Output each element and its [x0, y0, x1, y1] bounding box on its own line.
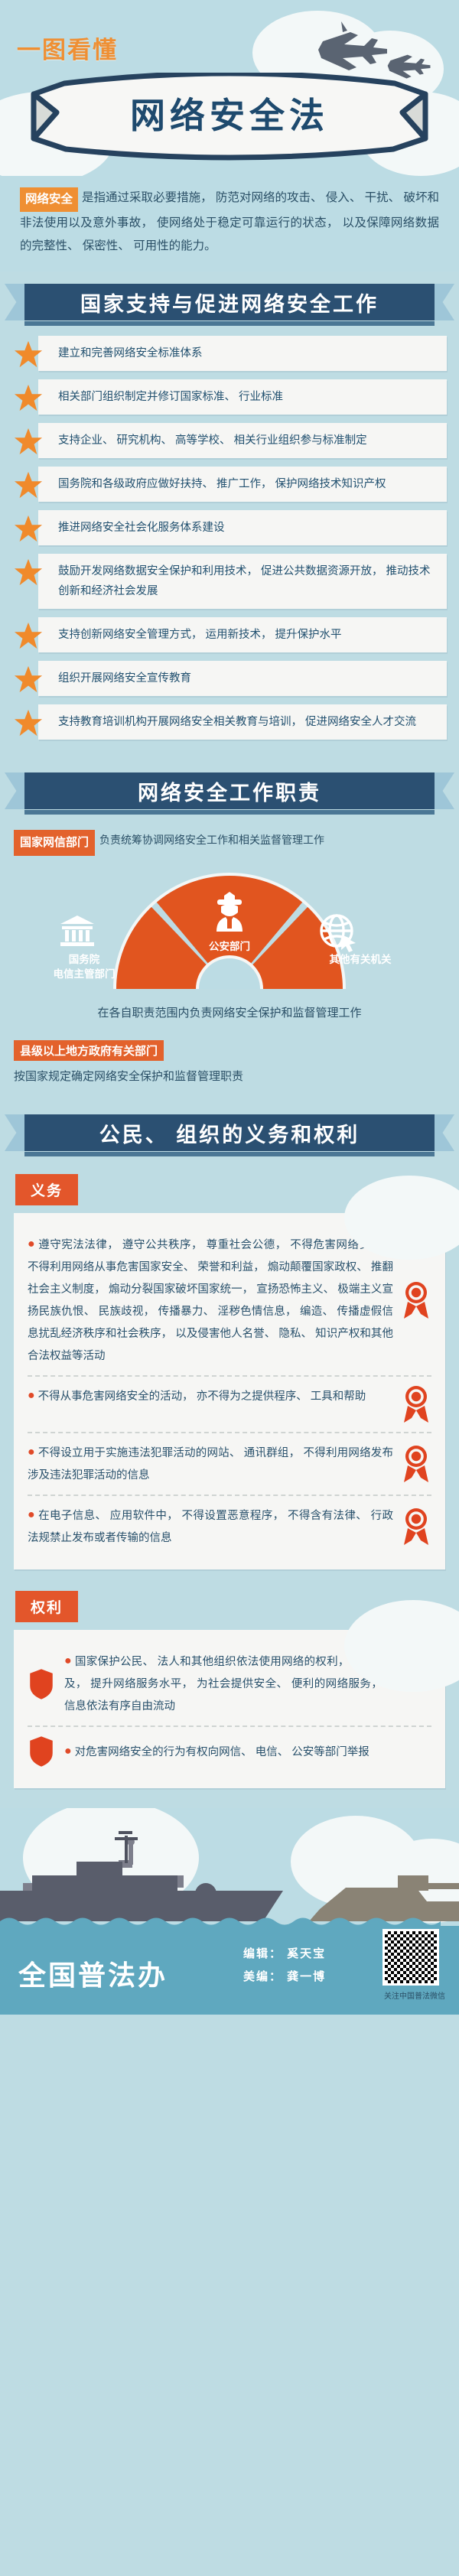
qr-caption: 关注中国普法微信 [384, 1989, 445, 2001]
local-gov-tag: 县级以上地方政府有关部门 [14, 1040, 164, 1061]
bullet-icon: ● [28, 1508, 35, 1521]
list-item-text: 推进网络安全社会化服务体系建设 [58, 518, 225, 538]
obligations-chip: 义务 [15, 1174, 78, 1205]
ribbon-tail-right [433, 1114, 454, 1151]
star-icon [12, 707, 44, 739]
star-icon [12, 338, 44, 370]
list-item: 建立和完善网络安全标准体系 [12, 336, 447, 371]
ribbon-tail-left [5, 1114, 26, 1151]
ribbon-tail-right [433, 772, 454, 809]
police-officer-icon [207, 891, 252, 932]
star-icon [12, 382, 44, 414]
list-item-text: 不得从事危害网络安全的活动， 亦不得为之提供程序、 工具和帮助 [38, 1390, 366, 1403]
section-header-duties-rights: 公民、 组织的义务和权利 [5, 1114, 454, 1157]
bank-icon [59, 914, 96, 948]
definition-tag: 网络安全 [20, 187, 78, 212]
medal-ribbon-icon [401, 1444, 431, 1484]
list-item: 鼓励开发网络数据安全保护和利用技术， 促进公共数据资源开放， 推动技术创新和经济… [12, 554, 447, 609]
footer-brand: 全国普法办 [18, 1953, 168, 1993]
list-item-text: 国务院和各级政府应做好扶持、 推广工作， 保护网络技术知识产权 [58, 474, 386, 494]
section1-list: 建立和完善网络安全标准体系 相关部门组织制定并修订国家标准、 行业标准 支持企业… [0, 333, 459, 753]
local-gov-block: 县级以上地方政府有关部门 按国家规定确定网络安全保护和监督管理职责 [0, 1023, 459, 1091]
header: 一图看懂 网络安全法 [0, 0, 459, 176]
title-banner: 网络安全法 [11, 73, 448, 164]
list-item-text: 遵守宪法法律， 遵守公共秩序， 尊重社会公德， 不得危害网络安全， 不得利用网络… [28, 1239, 393, 1362]
warship-icon [0, 1808, 459, 1938]
obligations-panel: ●遵守宪法法律， 遵守公共秩序， 尊重社会公德， 不得危害网络安全， 不得利用网… [14, 1213, 445, 1569]
section3-title: 公民、 组织的义务和权利 [99, 1118, 360, 1148]
star-icon [12, 512, 44, 545]
list-item-text: 不得设立用于实施违法犯罪活动的网站、 通讯群组， 不得利用网络发布涉及违法犯罪活… [28, 1447, 393, 1482]
cac-tag: 国家网信部门 [14, 830, 95, 856]
page-title: 网络安全法 [11, 73, 448, 164]
list-item-text: 支持创新网络安全管理方式， 运用新技术， 提升保护水平 [58, 625, 342, 645]
rights-block: 权利 ●国家保护公民、 法人和其他组织依法使用网络的权利， 促进网络接入普及， … [0, 1580, 459, 1788]
infographic-page: 一图看懂 网络安全法 网络安全是指通过采取必要措施， 防范对网络的攻击、 侵入、… [0, 0, 459, 2576]
page-kicker: 一图看懂 [17, 31, 118, 65]
list-item-text: 对危害网络安全的行为有权向网信、 电信、 公安等部门举报 [75, 1746, 369, 1758]
star-icon [12, 556, 44, 588]
bullet-icon: ● [28, 1446, 35, 1459]
star-icon [12, 425, 44, 457]
list-item: 推进网络安全社会化服务体系建设 [12, 510, 447, 545]
footer-credits: 编辑： 奚天宝 美编： 龚一博 [243, 1943, 326, 1989]
list-item-text: 鼓励开发网络数据安全保护和利用技术， 促进公共数据资源开放， 推动技术创新和经济… [58, 561, 435, 601]
section2-title: 网络安全工作职责 [138, 776, 321, 806]
star-icon [12, 663, 44, 695]
list-item: 支持企业、 研究机构、 高等学校、 相关行业组织参与标准制定 [12, 423, 447, 458]
list-item-text: 在电子信息、 应用软件中， 不得设置恶意程序， 不得含有法律、 行政法规禁止发布… [28, 1510, 393, 1544]
cac-line: 国家网信部门负责统筹协调网络安全工作和相关监督管理工作 [0, 821, 459, 857]
list-item: 支持创新网络安全管理方式， 运用新技术， 提升保护水平 [12, 617, 447, 652]
list-item: ●在电子信息、 应用软件中， 不得设置恶意程序， 不得含有法律、 行政法规禁止发… [28, 1495, 431, 1557]
footer: 全国普法办 编辑： 奚天宝 美编： 龚一博 关注中国普法微信 [0, 1808, 459, 2015]
ribbon-tail-left [5, 772, 26, 809]
list-item-text: 组织开展网络安全宣传教育 [58, 668, 191, 688]
list-item: 支持教育培训机构开展网络安全相关教育与培训， 促进网络安全人才交流 [12, 704, 447, 740]
definition-block: 网络安全是指通过采取必要措施， 防范对网络的攻击、 侵入、 干扰、 破坏和非法使… [0, 176, 459, 272]
obligations-block: 义务 ●遵守宪法法律， 遵守公共秩序， 尊重社会公德， 不得危害网络安全， 不得… [0, 1163, 459, 1569]
section-header-duties: 网络安全工作职责 [5, 772, 454, 815]
star-icon [12, 620, 44, 652]
ribbon-tail-left [5, 284, 26, 320]
fan-label-other-agencies: 其他有关机关 [303, 952, 418, 967]
editor-credit: 编辑： 奚天宝 [243, 1943, 326, 1966]
list-item: 相关部门组织制定并修订国家标准、 行业标准 [12, 379, 447, 415]
cac-text: 负责统筹协调网络安全工作和相关监督管理工作 [99, 834, 324, 846]
fan-label-public-security: 公安部门 [176, 939, 283, 954]
list-item-text: 建立和完善网络安全标准体系 [58, 343, 203, 363]
local-gov-text: 按国家规定确定网络安全保护和监督管理职责 [14, 1061, 445, 1087]
list-item: 国务院和各级政府应做好扶持、 推广工作， 保护网络技术知识产权 [12, 467, 447, 502]
ribbon-tail-right [433, 284, 454, 320]
section1-title: 国家支持与促进网络安全工作 [80, 288, 379, 317]
list-item-text: 相关部门组织制定并修订国家标准、 行业标准 [58, 387, 283, 407]
medal-ribbon-icon [401, 1384, 431, 1424]
list-item: ●对危害网络安全的行为有权向网信、 电信、 公安等部门举报 [28, 1725, 431, 1776]
medal-ribbon-icon [401, 1507, 431, 1547]
list-item-text: 支持教育培训机构开展网络安全相关教育与培训， 促进网络安全人才交流 [58, 712, 416, 732]
medal-ribbon-icon [401, 1280, 431, 1320]
list-item: ●不得设立用于实施违法犯罪活动的网站、 通讯群组， 不得利用网络发布涉及违法犯罪… [28, 1432, 431, 1495]
bullet-icon: ● [28, 1389, 35, 1402]
designer-credit: 美编： 龚一博 [243, 1966, 326, 1989]
section-header-support: 国家支持与促进网络安全工作 [5, 284, 454, 327]
list-item-text: 支持企业、 研究机构、 高等学校、 相关行业组织参与标准制定 [58, 431, 367, 450]
shield-icon [28, 1735, 55, 1768]
globe-cursor-icon [318, 912, 358, 952]
star-icon [12, 469, 44, 501]
rights-chip: 权利 [15, 1591, 78, 1622]
definition-text: 是指通过采取必要措施， 防范对网络的攻击、 侵入、 干扰、 破坏和非法使用以及意… [20, 191, 439, 252]
fan-label-state-council: 国务院电信主管部门 [31, 952, 138, 981]
fan-caption: 在各自职责范围内负责网络安全保护和监督管理工作 [0, 998, 459, 1023]
shield-icon [28, 1667, 55, 1701]
list-item: ●不得从事危害网络安全的活动， 亦不得为之提供程序、 工具和帮助 [28, 1375, 431, 1432]
departments-fan-diagram: 国务院电信主管部门 公安部门 其他有关机关 [0, 867, 459, 998]
bullet-icon: ● [64, 1745, 72, 1758]
bullet-icon: ● [28, 1238, 35, 1251]
qr-code-icon[interactable] [382, 1929, 439, 1986]
bullet-icon: ● [64, 1654, 72, 1667]
list-item: 组织开展网络安全宣传教育 [12, 661, 447, 696]
